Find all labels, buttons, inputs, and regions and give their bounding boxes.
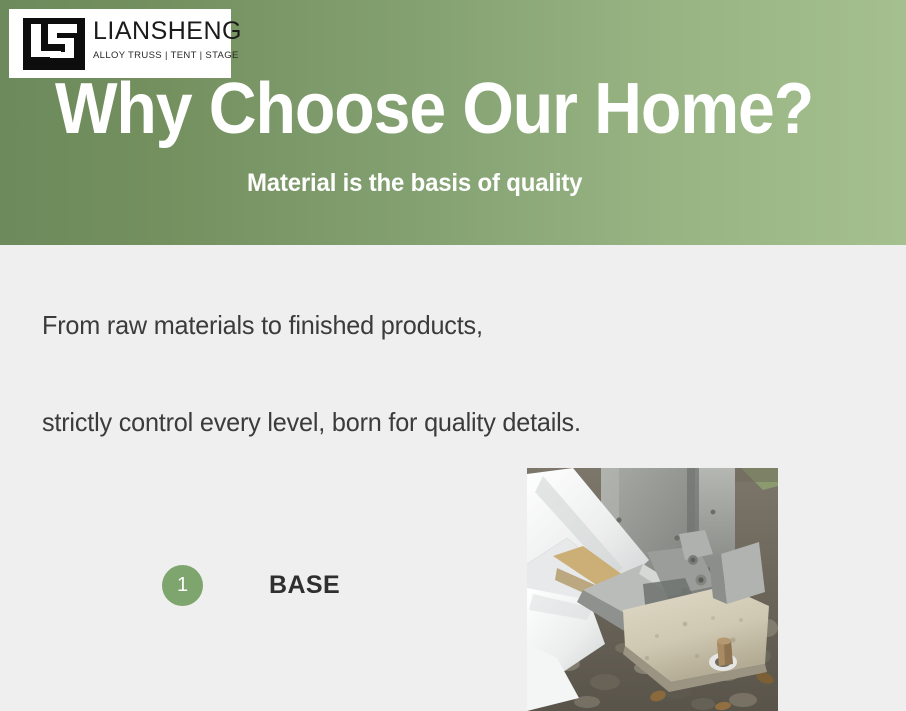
ls-monogram-icon (23, 18, 85, 70)
brand-text: LIANSHENG ALLOY TRUSS | TENT | STAGE (93, 17, 229, 63)
truss-base-plate-photo (527, 468, 778, 711)
brand-name: LIANSHENG (93, 17, 242, 45)
item-number-badge: 1 (162, 565, 203, 606)
brand-tagline: ALLOY TRUSS | TENT | STAGE (93, 50, 239, 61)
slide-root: LIANSHENG ALLOY TRUSS | TENT | STAGE Why… (0, 0, 906, 711)
list-item: 1 BASE (162, 565, 340, 606)
page-subtitle: Material is the basis of quality (247, 166, 582, 200)
page-title: Why Choose Our Home? (55, 68, 813, 150)
body-text-line-2: strictly control every level, born for q… (42, 405, 581, 439)
body-text-line-1: From raw materials to finished products, (42, 308, 483, 342)
item-label: BASE (269, 571, 340, 600)
